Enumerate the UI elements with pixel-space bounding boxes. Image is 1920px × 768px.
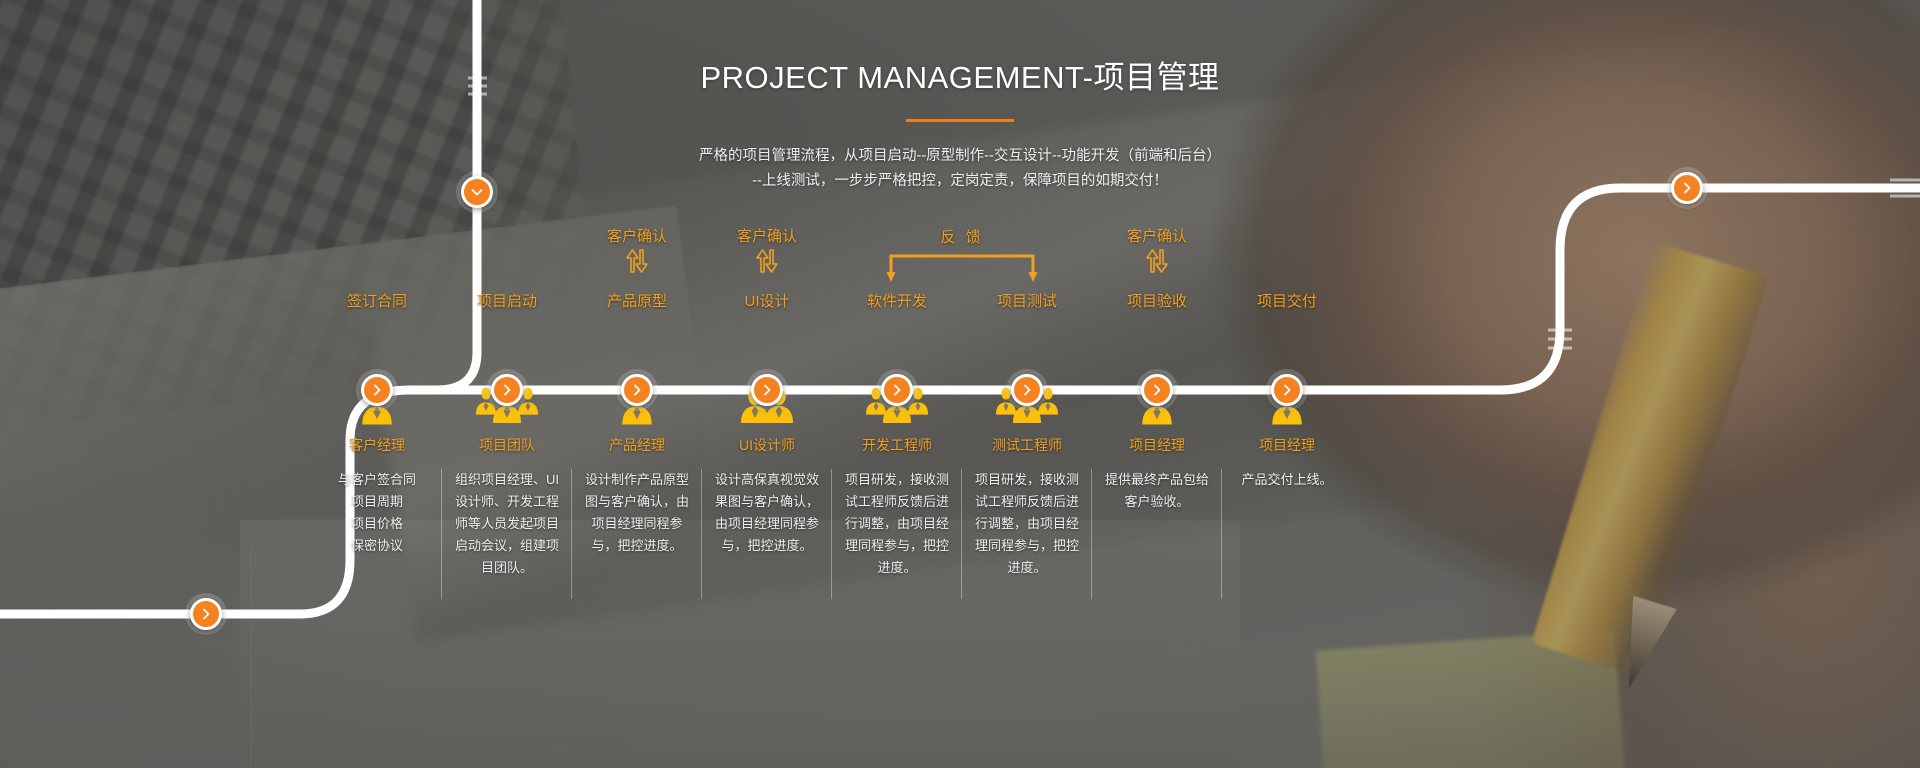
column-divider bbox=[1091, 469, 1092, 599]
step-desc-wrap-6: 项目研发，接收测试工程师反馈后进行调整，由项目经理同程参与，把控进度。 bbox=[963, 469, 1091, 599]
step-desc-wrap-5: 项目研发，接收测试工程师反馈后进行调整，由项目经理同程参与，把控进度。 bbox=[833, 469, 961, 599]
step-name-4: UI设计 bbox=[703, 290, 831, 311]
chevron-right-icon bbox=[1682, 182, 1692, 194]
step-node-slot-2 bbox=[443, 311, 571, 353]
step-desc-line: 项目研发，接收测试工程师反馈后进行调整，由项目经理同程参与，把控进度。 bbox=[841, 469, 953, 579]
step-desc-line: 设计高保真视觉效果图与客户确认，由项目经理同程参与，把控进度。 bbox=[711, 469, 823, 557]
step-name-3: 产品原型 bbox=[573, 290, 701, 311]
step-desc-line: 提供最终产品包给客户验收。 bbox=[1101, 469, 1213, 513]
step-desc-1: 与客户签合同项目周期项目价格保密协议 bbox=[313, 469, 441, 557]
step-name-7: 项目验收 bbox=[1093, 290, 1221, 311]
step-desc-line: 项目价格 bbox=[321, 513, 433, 535]
step-desc-wrap-2: 组织项目经理、UI设计师、开发工程师等人员发起项目启动会议，组建项目团队。 bbox=[443, 469, 571, 599]
feedback-label: 反 馈 bbox=[867, 226, 1057, 247]
top-left-node[interactable] bbox=[461, 176, 493, 208]
step-desc-8: 产品交付上线。 bbox=[1223, 469, 1351, 491]
up-down-arrows-icon bbox=[1144, 249, 1170, 273]
step-role-6: 测试工程师 bbox=[963, 435, 1091, 455]
step-name-5: 软件开发 bbox=[833, 290, 961, 311]
column-divider bbox=[961, 469, 962, 599]
up-down-arrows-icon bbox=[573, 248, 701, 274]
step-desc-line: 产品交付上线。 bbox=[1231, 469, 1343, 491]
step-role-5: 开发工程师 bbox=[833, 435, 961, 455]
step-role-3: 产品经理 bbox=[573, 435, 701, 455]
step-role-1: 客户经理 bbox=[313, 435, 441, 455]
timeline-step-2[interactable]: 项目启动项目团队组织项目经理、UI设计师、开发工程师等人员发起项目启动会议，组建… bbox=[443, 228, 571, 599]
step-node-slot-5 bbox=[833, 311, 961, 353]
step-desc-5: 项目研发，接收测试工程师反馈后进行调整，由项目经理同程参与，把控进度。 bbox=[833, 469, 961, 579]
step-role-8: 项目经理 bbox=[1223, 435, 1351, 455]
step-desc-wrap-1: 与客户签合同项目周期项目价格保密协议 bbox=[313, 469, 441, 599]
step-name-2: 项目启动 bbox=[443, 290, 571, 311]
step-cap-label-4: 客户确认 bbox=[703, 228, 831, 246]
chevron-right-icon bbox=[1282, 384, 1292, 396]
step-name-8: 项目交付 bbox=[1223, 290, 1351, 311]
up-down-arrows-icon bbox=[754, 249, 780, 273]
step-desc-line: 与客户签合同 bbox=[321, 469, 433, 491]
timeline-node-3[interactable] bbox=[621, 374, 653, 406]
chevron-right-icon bbox=[892, 384, 902, 396]
step-cap-8 bbox=[1223, 228, 1351, 286]
up-down-arrows-icon bbox=[624, 249, 650, 273]
column-divider bbox=[1221, 469, 1222, 599]
timeline-node-5[interactable] bbox=[881, 374, 913, 406]
step-node-slot-4 bbox=[703, 311, 831, 353]
step-desc-line: 项目研发，接收测试工程师反馈后进行调整，由项目经理同程参与，把控进度。 bbox=[971, 469, 1083, 579]
step-node-slot-8 bbox=[1223, 311, 1351, 353]
step-cap-1 bbox=[313, 228, 441, 286]
step-desc-7: 提供最终产品包给客户验收。 bbox=[1093, 469, 1221, 513]
left-node[interactable] bbox=[190, 598, 222, 630]
step-node-slot-1 bbox=[313, 311, 441, 353]
step-desc-line: 保密协议 bbox=[321, 535, 433, 557]
step-role-4: UI设计师 bbox=[703, 435, 831, 455]
feedback-bracket bbox=[885, 252, 1039, 287]
step-desc-line: 设计制作产品原型图与客户确认，由项目经理同程参与，把控进度。 bbox=[581, 469, 693, 557]
timeline-step-3[interactable]: 客户确认产品原型产品经理设计制作产品原型图与客户确认，由项目经理同程参与，把控进… bbox=[573, 228, 701, 599]
step-desc-6: 项目研发，接收测试工程师反馈后进行调整，由项目经理同程参与，把控进度。 bbox=[963, 469, 1091, 579]
step-role-7: 项目经理 bbox=[1093, 435, 1221, 455]
column-divider bbox=[571, 469, 572, 599]
step-node-slot-6 bbox=[963, 311, 1091, 353]
chevron-right-icon bbox=[632, 384, 642, 396]
timeline-node-2[interactable] bbox=[491, 374, 523, 406]
page-stage: PROJECT MANAGEMENT-项目管理 严格的项目管理流程，从项目启动-… bbox=[0, 0, 1920, 768]
timeline-node-1[interactable] bbox=[361, 374, 393, 406]
up-down-arrows-icon bbox=[703, 248, 831, 274]
timeline-node-7[interactable] bbox=[1141, 374, 1173, 406]
step-cap-2 bbox=[443, 228, 571, 286]
chevron-right-icon bbox=[201, 608, 211, 620]
timeline-node-4[interactable] bbox=[751, 374, 783, 406]
timeline-node-6[interactable] bbox=[1011, 374, 1043, 406]
chevron-right-icon bbox=[1152, 384, 1162, 396]
right-node[interactable] bbox=[1671, 172, 1703, 204]
chevron-down-icon bbox=[471, 187, 483, 197]
step-desc-line: 项目周期 bbox=[321, 491, 433, 513]
step-desc-wrap-4: 设计高保真视觉效果图与客户确认，由项目经理同程参与，把控进度。 bbox=[703, 469, 831, 599]
step-node-slot-3 bbox=[573, 311, 701, 353]
step-desc-3: 设计制作产品原型图与客户确认，由项目经理同程参与，把控进度。 bbox=[573, 469, 701, 557]
chevron-right-icon bbox=[502, 384, 512, 396]
timeline-step-4[interactable]: 客户确认UI设计UI设计师设计高保真视觉效果图与客户确认，由项目经理同程参与，把… bbox=[703, 228, 831, 599]
up-down-arrows-icon bbox=[1093, 248, 1221, 274]
chevron-right-icon bbox=[1022, 384, 1032, 396]
step-cap-label-7: 客户确认 bbox=[1093, 228, 1221, 246]
step-desc-line: 组织项目经理、UI设计师、开发工程师等人员发起项目启动会议，组建项目团队。 bbox=[451, 469, 563, 579]
step-cap-4: 客户确认 bbox=[703, 228, 831, 286]
timeline-node-8[interactable] bbox=[1271, 374, 1303, 406]
step-node-slot-7 bbox=[1093, 311, 1221, 353]
step-desc-wrap-8: 产品交付上线。 bbox=[1223, 469, 1351, 599]
chevron-right-icon bbox=[762, 384, 772, 396]
step-role-2: 项目团队 bbox=[443, 435, 571, 455]
column-divider bbox=[831, 469, 832, 599]
timeline-step-7[interactable]: 客户确认项目验收项目经理提供最终产品包给客户验收。 bbox=[1093, 228, 1221, 599]
column-divider bbox=[441, 469, 442, 599]
timeline-step-8[interactable]: 项目交付项目经理产品交付上线。 bbox=[1223, 228, 1351, 599]
step-desc-2: 组织项目经理、UI设计师、开发工程师等人员发起项目启动会议，组建项目团队。 bbox=[443, 469, 571, 579]
step-cap-7: 客户确认 bbox=[1093, 228, 1221, 286]
step-cap-label-3: 客户确认 bbox=[573, 228, 701, 246]
step-name-1: 签订合同 bbox=[313, 290, 441, 311]
step-desc-4: 设计高保真视觉效果图与客户确认，由项目经理同程参与，把控进度。 bbox=[703, 469, 831, 557]
timeline: 签订合同客户经理与客户签合同项目周期项目价格保密协议项目启动项目团队组织项目经理… bbox=[0, 0, 1920, 768]
chevron-right-icon bbox=[372, 384, 382, 396]
step-cap-3: 客户确认 bbox=[573, 228, 701, 286]
timeline-step-1[interactable]: 签订合同客户经理与客户签合同项目周期项目价格保密协议 bbox=[313, 228, 441, 599]
step-name-6: 项目测试 bbox=[963, 290, 1091, 311]
step-desc-wrap-7: 提供最终产品包给客户验收。 bbox=[1093, 469, 1221, 599]
column-divider bbox=[701, 469, 702, 599]
step-desc-wrap-3: 设计制作产品原型图与客户确认，由项目经理同程参与，把控进度。 bbox=[573, 469, 701, 599]
